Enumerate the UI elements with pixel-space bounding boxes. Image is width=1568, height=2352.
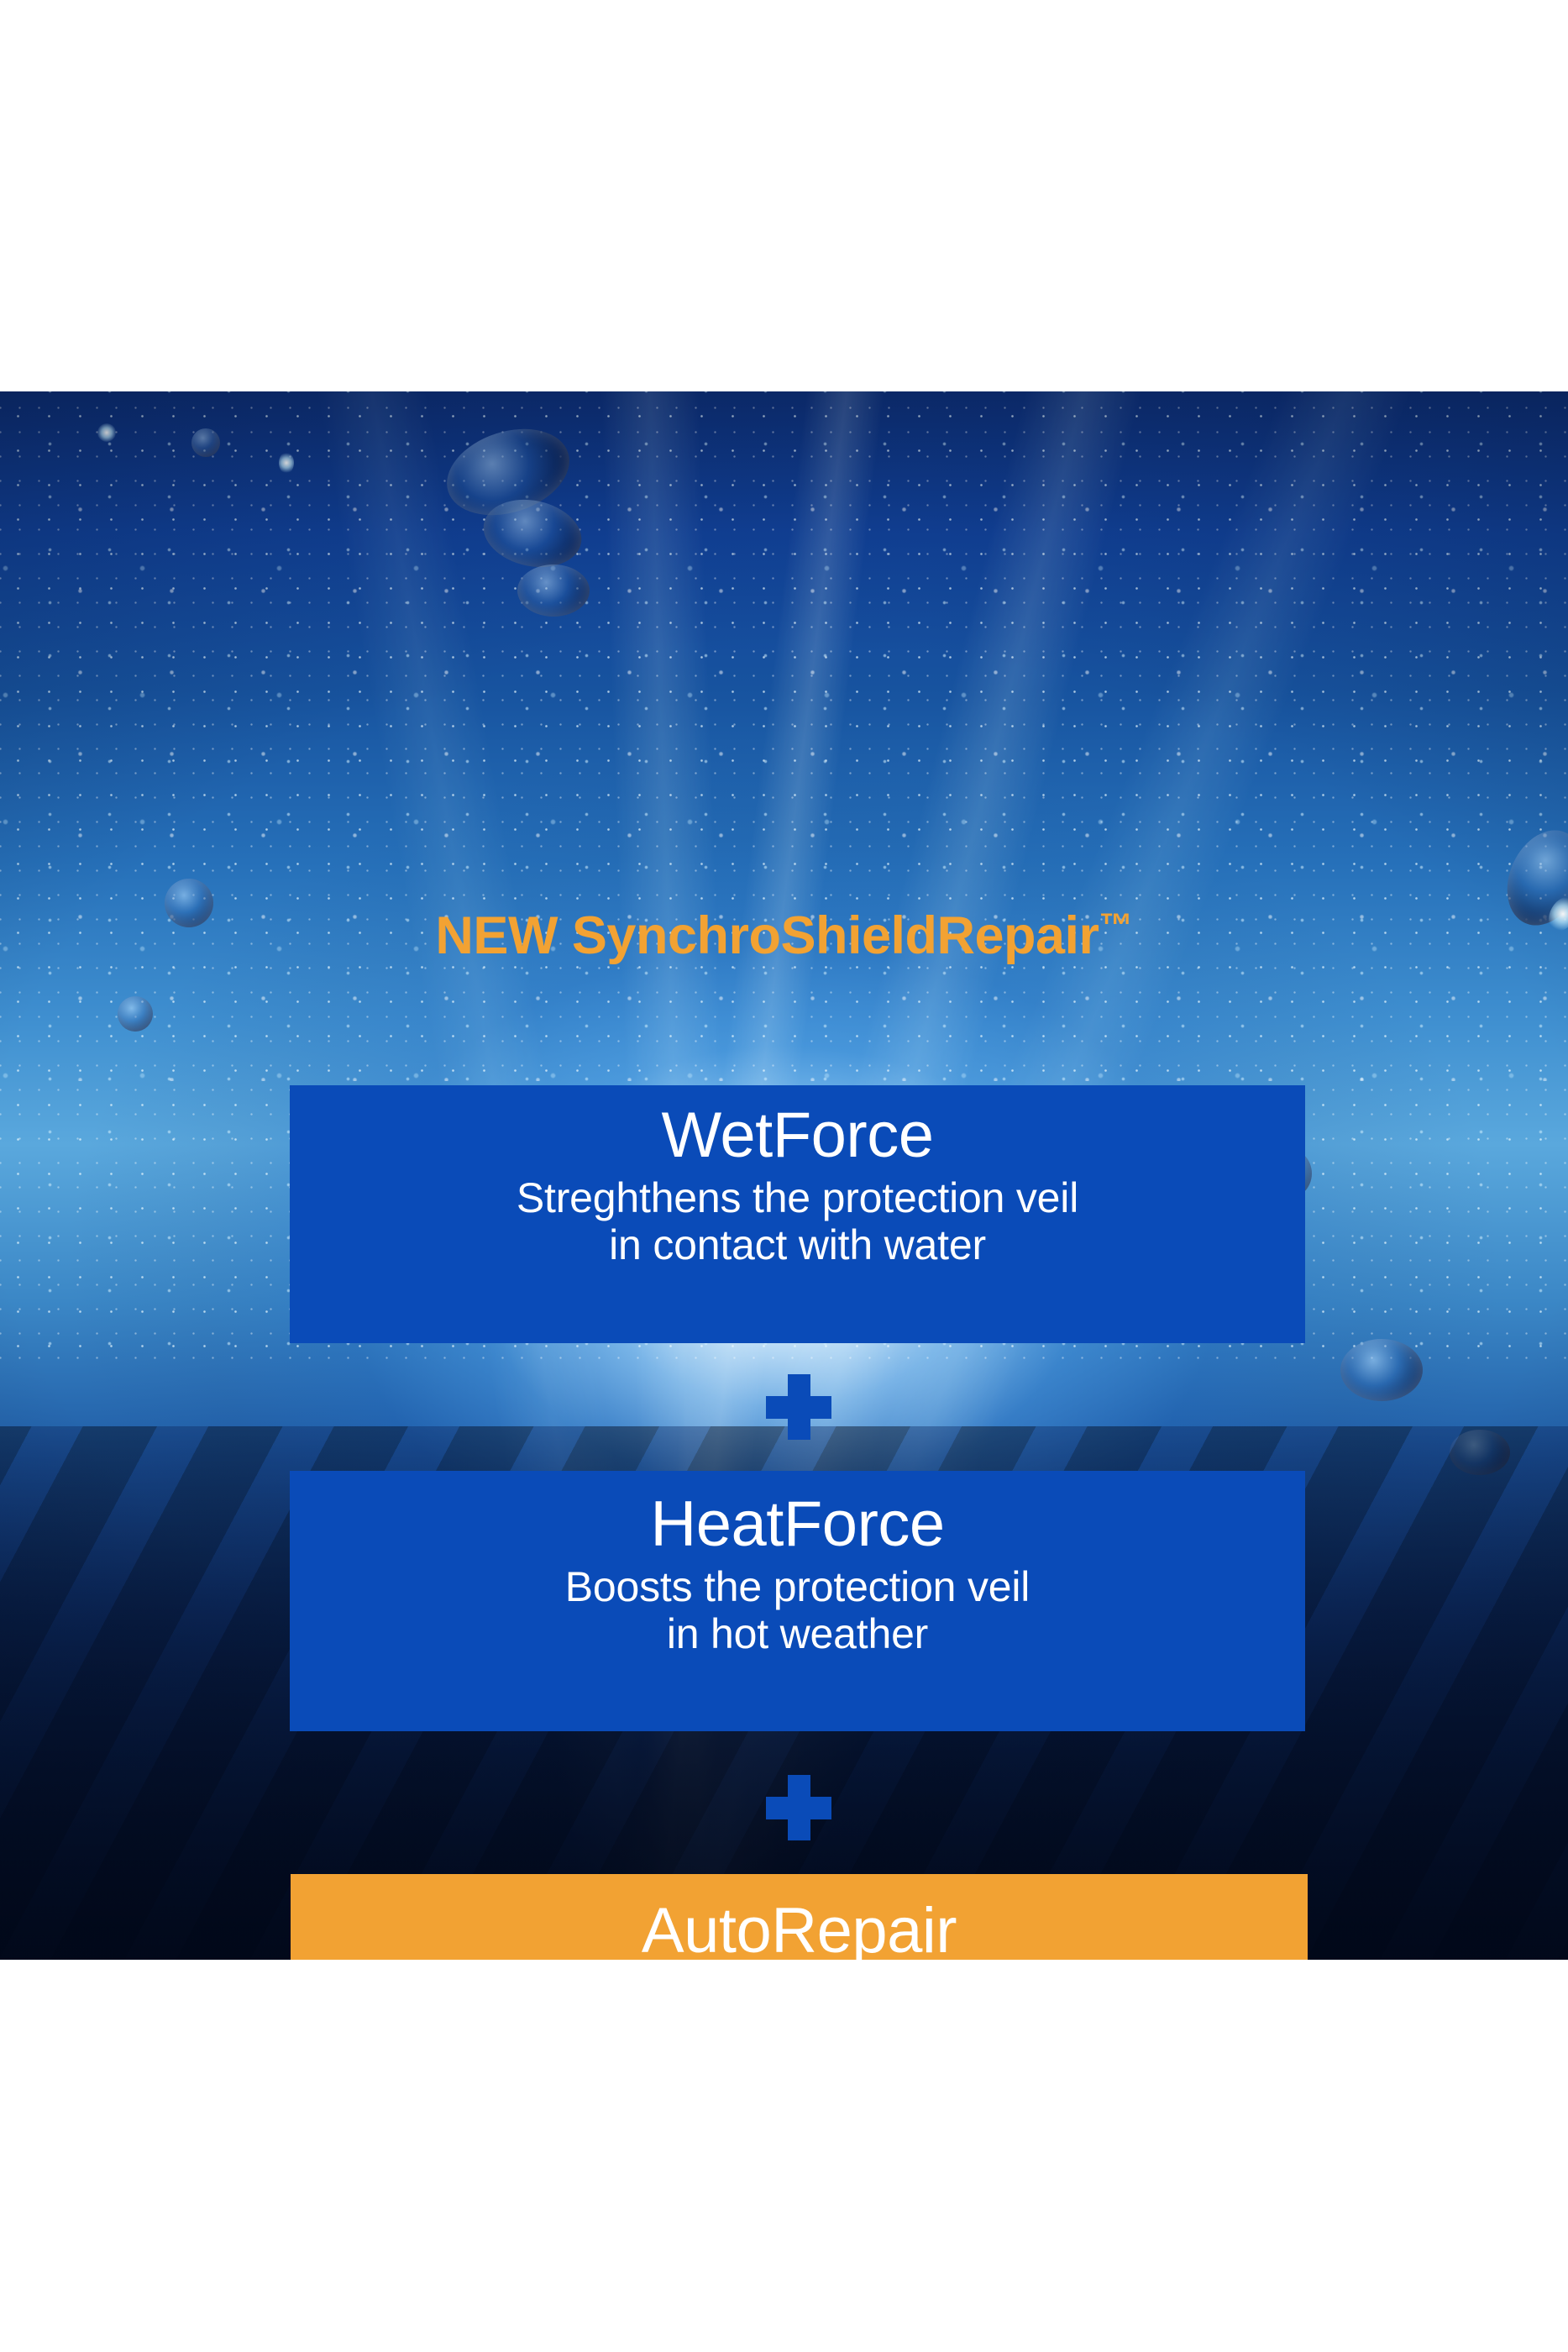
card-description-wetforce: Streghthens the protection veil in conta… [312, 1168, 1283, 1268]
plus-icon-vertical-bar [788, 1775, 810, 1840]
card-description-line-2: in hot weather [312, 1610, 1283, 1657]
benefit-card-autorepair[interactable]: AutoRepair The protection veil repairs i… [291, 1874, 1308, 1960]
card-title-heatforce: HeatForce [312, 1471, 1283, 1557]
page-title: NEW SynchroShieldRepair™ [0, 906, 1568, 966]
page-title-text: NEW SynchroShieldRepair [435, 906, 1099, 965]
trademark-symbol: ™ [1099, 907, 1133, 944]
card-description-heatforce: Boosts the protection veil in hot weathe… [312, 1557, 1283, 1657]
plus-icon-2 [766, 1775, 831, 1840]
card-description-line-1: Streghthens the protection veil [312, 1174, 1283, 1221]
card-description-line-2: in contact with water [312, 1221, 1283, 1268]
card-title-wetforce: WetForce [312, 1085, 1283, 1168]
plus-icon-vertical-bar [788, 1374, 810, 1440]
underwater-hero-photo: NEW SynchroShieldRepair™ WetForce Stregh… [0, 391, 1568, 1960]
plus-icon-1 [766, 1374, 831, 1440]
benefit-card-wetforce[interactable]: WetForce Streghthens the protection veil… [290, 1085, 1305, 1343]
card-title-autorepair: AutoRepair [312, 1874, 1286, 1960]
product-marketing-page: NEW SynchroShieldRepair™ WetForce Stregh… [0, 0, 1568, 2352]
benefit-card-heatforce[interactable]: HeatForce Boosts the protection veil in … [290, 1471, 1305, 1731]
card-description-line-1: Boosts the protection veil [312, 1563, 1283, 1610]
